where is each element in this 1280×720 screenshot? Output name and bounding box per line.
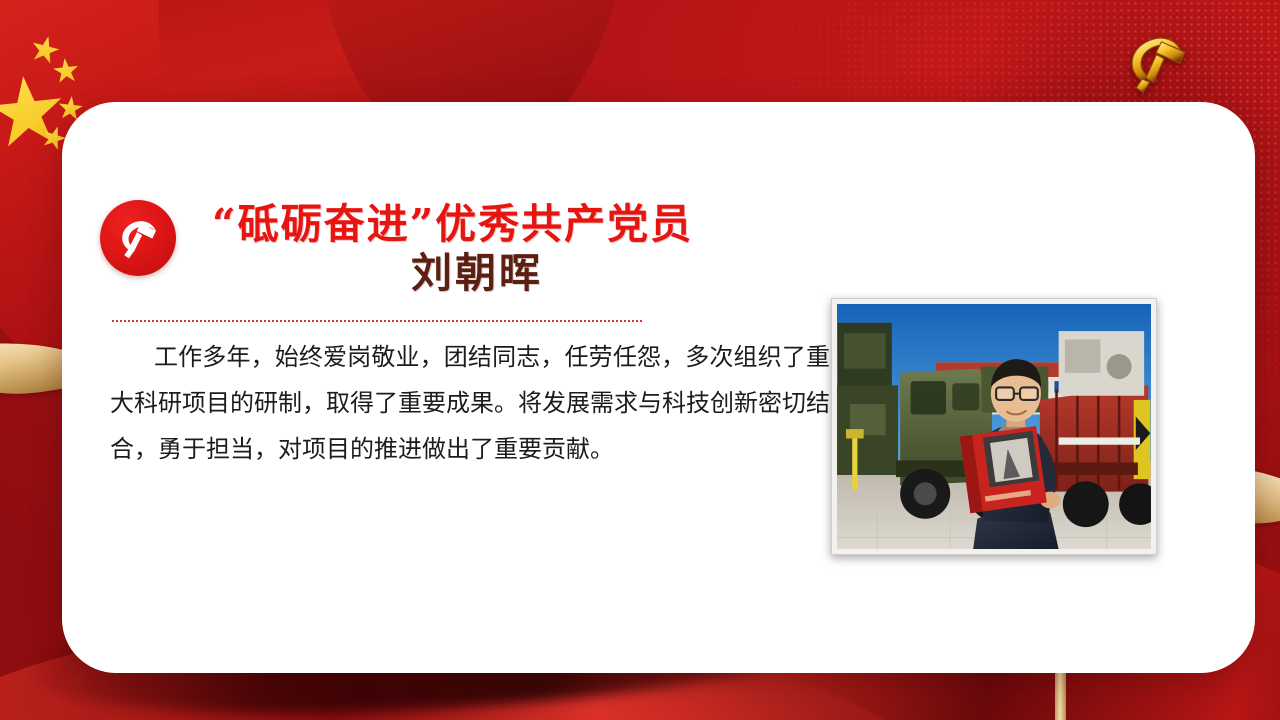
party-emblem-gold-icon — [1110, 24, 1206, 100]
title-block: “砥砺奋进”优秀共产党员 刘朝晖 — [212, 200, 832, 298]
description-paragraph: 工作多年，始终爱岗敬业，团结同志，任劳任怨，多次组织了重大科研项目的研制，取得了… — [110, 334, 830, 472]
page-title-line1: “砥砺奋进”优秀共产党员 — [212, 200, 832, 248]
slide-stage: “砥砺奋进”优秀共产党员 刘朝晖 工作多年，始终爱岗敬业，团结同志，任劳任怨，多… — [0, 0, 1280, 720]
dotted-divider — [112, 320, 642, 322]
photo-frame — [831, 298, 1157, 555]
page-title-name: 刘朝晖 — [212, 248, 832, 298]
photo-image — [837, 304, 1151, 549]
party-badge-icon — [100, 200, 176, 276]
content-card: “砥砺奋进”优秀共产党员 刘朝晖 工作多年，始终爱岗敬业，团结同志，任劳任怨，多… — [62, 102, 1255, 673]
